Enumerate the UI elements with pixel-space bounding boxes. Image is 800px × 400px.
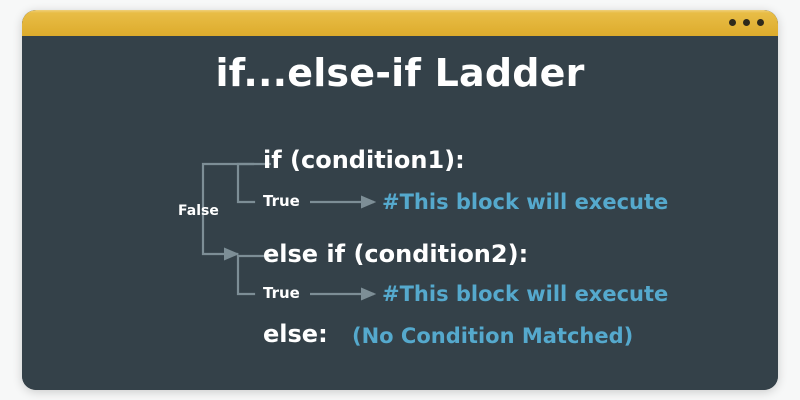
else-if-condition-label: else if (condition2):	[263, 240, 528, 268]
browser-card: if...else-if Ladder	[22, 10, 778, 390]
window-controls[interactable]	[729, 19, 764, 26]
dot-icon-1[interactable]	[729, 19, 736, 26]
true-branch-label-2: True	[263, 284, 300, 302]
if-condition-label: if (condition1):	[263, 146, 465, 174]
false-branch-label: False	[178, 203, 219, 219]
flow-diagram: if (condition1): False True #This block …	[22, 36, 778, 390]
slide-viewport: if...else-if Ladder	[22, 36, 778, 390]
browser-titlebar	[22, 10, 778, 36]
dot-icon-3[interactable]	[757, 19, 764, 26]
dot-icon-2[interactable]	[743, 19, 750, 26]
else-label: else:	[263, 320, 328, 348]
execute-comment-1: #This block will execute	[382, 190, 668, 214]
else-note-label: (No Condition Matched)	[352, 324, 633, 348]
screenshot-stage: if...else-if Ladder	[0, 0, 800, 400]
execute-comment-2: #This block will execute	[382, 282, 668, 306]
true-branch-label-1: True	[263, 192, 300, 210]
